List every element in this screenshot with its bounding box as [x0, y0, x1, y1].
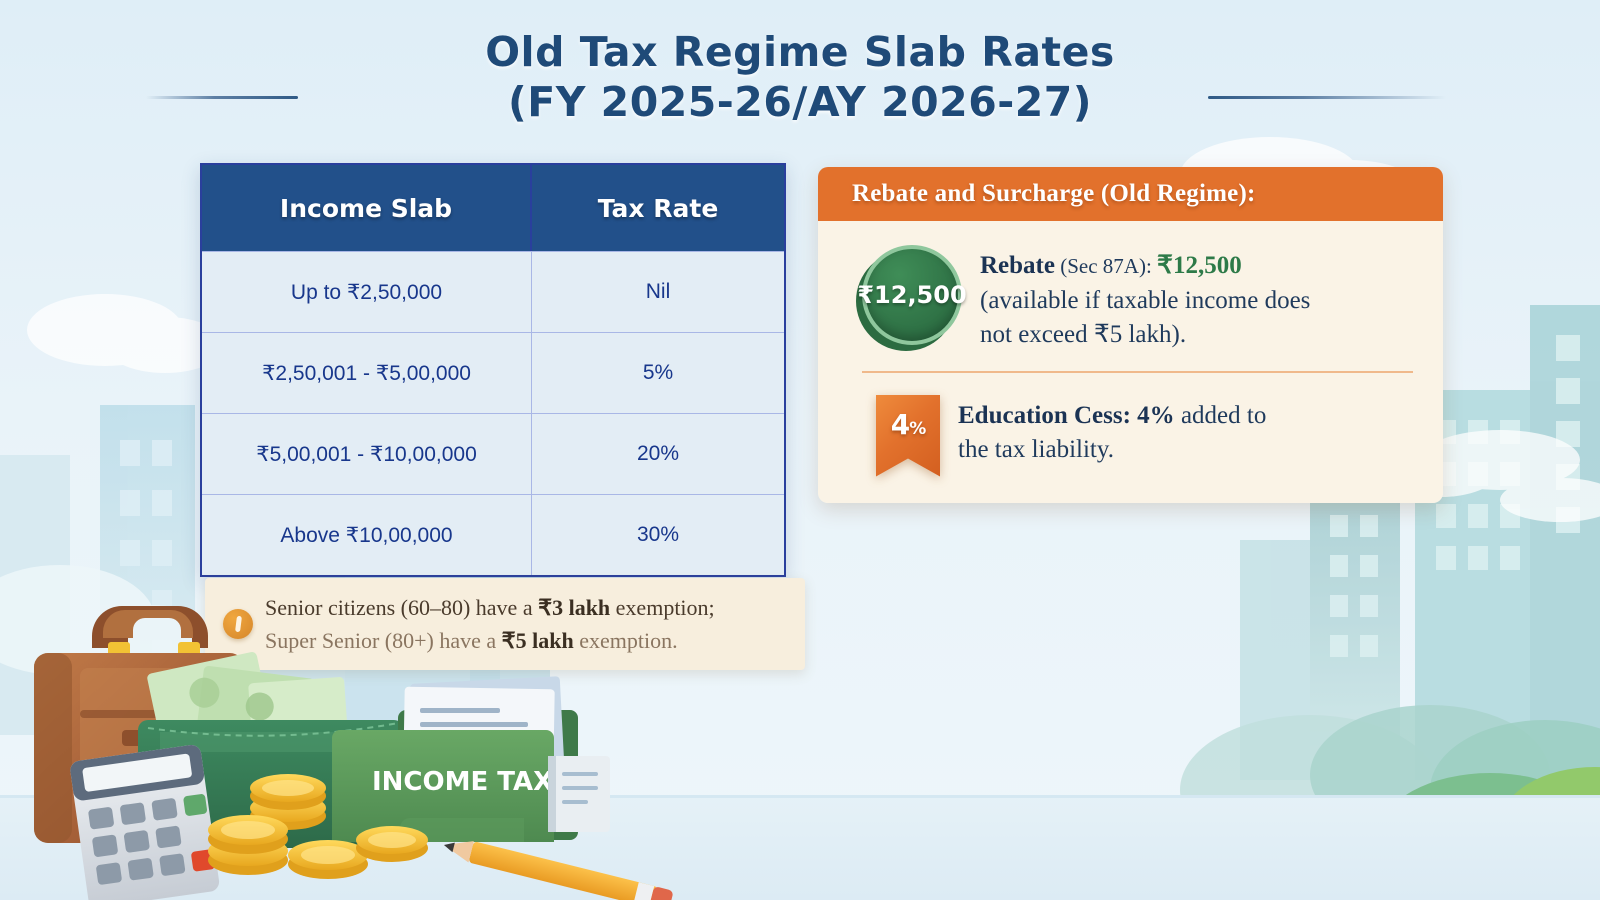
coin-amount-label: ₹12,500 — [857, 281, 966, 309]
rebate-note-line-1: (available if taxable income does — [980, 284, 1310, 319]
title-rule-right — [1208, 96, 1446, 99]
column-header-tax-rate: Tax Rate — [532, 165, 784, 251]
table-body: Up to ₹2,50,000 Nil ₹2,50,001 - ₹5,00,00… — [202, 251, 784, 575]
rebate-section: (Sec 87A): — [1055, 254, 1157, 278]
ribbon-unit: % — [909, 419, 925, 439]
panel-body: ₹12,500 Rebate (Sec 87A): ₹12,500 (avail… — [818, 221, 1443, 503]
tax-illustration: INCOME TAX — [0, 560, 700, 900]
income-tax-folder-icon: INCOME TAX — [332, 676, 578, 842]
education-cess-row: 4% Education Cess: 4% added to the tax l… — [848, 373, 1415, 477]
ribbon-shape: 4% — [876, 395, 940, 477]
rebate-label: Rebate — [980, 252, 1055, 279]
green-coin-icon: ₹12,500 — [856, 245, 962, 351]
table-row: Up to ₹2,50,000 Nil — [202, 251, 784, 332]
tax-slab-table: Income Slab Tax Rate Up to ₹2,50,000 Nil… — [200, 163, 786, 577]
cell-tax-rate: 20% — [532, 413, 784, 494]
cell-income-slab: ₹5,00,001 - ₹10,00,000 — [202, 413, 532, 494]
cell-income-slab: Up to ₹2,50,000 — [202, 251, 532, 332]
ribbon-value: 4 — [891, 408, 909, 441]
coin-face: ₹12,500 — [862, 245, 962, 345]
cess-text-line-2: the tax liability. — [958, 433, 1266, 468]
panel-header-title: Rebate and Surcharge (Old Regime): — [818, 167, 1443, 221]
cell-tax-rate: 5% — [532, 332, 784, 413]
table-row: ₹2,50,001 - ₹5,00,000 5% — [202, 332, 784, 413]
title-line-1: Old Tax Regime Slab Rates — [0, 28, 1600, 78]
cess-text-line-1: added to — [1175, 402, 1267, 429]
calculator-icon — [69, 744, 220, 900]
rebate-row: ₹12,500 Rebate (Sec 87A): ₹12,500 (avail… — [848, 245, 1415, 353]
rebate-amount: ₹12,500 — [1157, 252, 1242, 279]
page-title: Old Tax Regime Slab Rates (FY 2025-26/AY… — [0, 28, 1600, 127]
cell-income-slab: ₹2,50,001 - ₹5,00,000 — [202, 332, 532, 413]
rebate-note-line-2: not exceed ₹5 lakh). — [980, 318, 1310, 353]
rebate-surcharge-panel: Rebate and Surcharge (Old Regime): ₹12,5… — [818, 167, 1443, 503]
pencil-icon — [441, 834, 673, 900]
ribbon-badge-icon: 4% — [876, 395, 940, 477]
cess-label: Education Cess: 4% — [958, 402, 1175, 429]
cell-tax-rate: Nil — [532, 251, 784, 332]
table-row: ₹5,00,001 - ₹10,00,000 20% — [202, 413, 784, 494]
title-line-2: (FY 2025-26/AY 2026-27) — [0, 78, 1600, 128]
education-cess-text: Education Cess: 4% added to the tax liab… — [958, 395, 1266, 468]
ribbon-label: 4% — [891, 408, 926, 441]
svg-text:INCOME TAX: INCOME TAX — [372, 767, 553, 797]
notebook-icon — [548, 756, 610, 832]
table-header-row: Income Slab Tax Rate — [202, 165, 784, 251]
column-header-income-slab: Income Slab — [202, 165, 532, 251]
rebate-text: Rebate (Sec 87A): ₹12,500 (available if … — [980, 245, 1310, 353]
title-rule-left — [146, 96, 298, 99]
